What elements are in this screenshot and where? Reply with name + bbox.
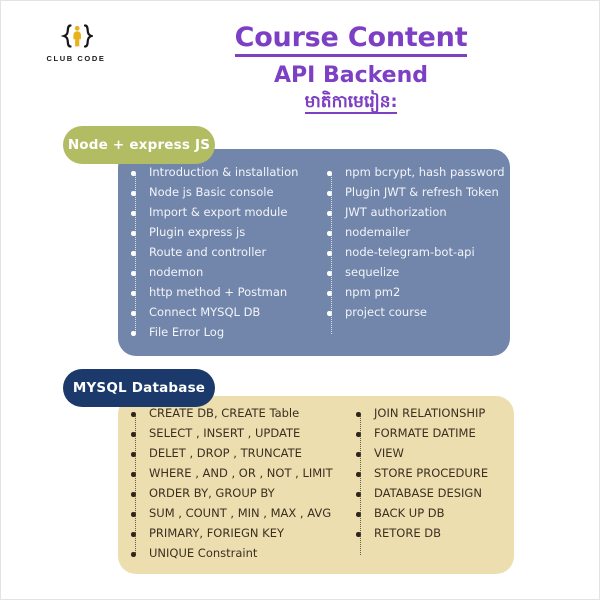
logo-wordmark: CLUB CODE	[31, 54, 121, 63]
list-item: npm bcrypt, hash password	[327, 166, 501, 186]
bullet-icon	[327, 311, 332, 316]
bullet-icon	[131, 251, 136, 256]
bullet-icon	[356, 412, 361, 417]
bullet-icon	[131, 171, 136, 176]
list-item: Node js Basic console	[131, 186, 327, 206]
node-express-list-right: npm bcrypt, hash password Plugin JWT & r…	[327, 166, 501, 346]
badge-mysql-database: MYSQL Database	[63, 369, 215, 407]
bullet-icon	[131, 492, 136, 497]
list-item: Route and controller	[131, 246, 327, 266]
list-item: Import & export module	[131, 206, 327, 226]
page-subtitle: API Backend	[131, 64, 571, 88]
list-item: SUM , COUNT , MIN , MAX , AVG	[131, 507, 356, 527]
bullet-icon	[131, 331, 136, 336]
bullet-icon	[131, 432, 136, 437]
bullet-icon	[327, 211, 332, 216]
list-item: DELET , DROP , TRUNCATE	[131, 447, 356, 467]
title-block: Course Content API Backend មាតិកាមេរៀន:	[131, 23, 571, 114]
bullet-icon	[327, 231, 332, 236]
bullet-icon	[131, 512, 136, 517]
list-item: UNIQUE Constraint	[131, 547, 356, 567]
bullet-icon	[327, 251, 332, 256]
list-item: SELECT , INSERT , UPDATE	[131, 427, 356, 447]
list-item: CREATE DB, CREATE Table	[131, 407, 356, 427]
list-item: node-telegram-bot-api	[327, 246, 501, 266]
bullet-icon	[131, 291, 136, 296]
code-braces-icon	[59, 23, 93, 49]
node-express-list: Introduction & installation Node js Basi…	[131, 166, 501, 346]
list-item: JWT authorization	[327, 206, 501, 226]
bullet-icon	[356, 472, 361, 477]
list-item: http method + Postman	[131, 286, 327, 306]
page-title: Course Content	[235, 23, 468, 57]
bullet-icon	[356, 432, 361, 437]
bullet-icon	[131, 191, 136, 196]
list-item: Plugin express js	[131, 226, 327, 246]
bullet-icon	[131, 271, 136, 276]
bullet-icon	[356, 452, 361, 457]
bullet-icon	[131, 412, 136, 417]
mysql-database-list: CREATE DB, CREATE Table SELECT , INSERT …	[131, 407, 511, 567]
badge-mysql-database-label: MYSQL Database	[73, 380, 205, 396]
list-item: VIEW	[356, 447, 511, 467]
list-item: Plugin JWT & refresh Token	[327, 186, 501, 206]
list-item: Connect MYSQL DB	[131, 306, 327, 326]
list-item: ORDER BY, GROUP BY	[131, 487, 356, 507]
bullet-icon	[131, 211, 136, 216]
list-item: BACK UP DB	[356, 507, 511, 527]
bullet-icon	[356, 512, 361, 517]
mysql-database-list-right: JOIN RELATIONSHIP FORMATE DATIME VIEW ST…	[356, 407, 511, 567]
course-content-poster: CLUB CODE Course Content API Backend មាត…	[0, 0, 600, 600]
list-item: File Error Log	[131, 326, 327, 346]
bullet-icon	[131, 552, 136, 557]
bullet-icon	[131, 452, 136, 457]
bullet-icon	[327, 171, 332, 176]
badge-node-express-label: Node + express JS	[68, 137, 210, 153]
list-item: project course	[327, 306, 501, 326]
node-express-list-left: Introduction & installation Node js Basi…	[131, 166, 327, 346]
bullet-icon	[356, 532, 361, 537]
bullet-icon	[131, 532, 136, 537]
list-item: Introduction & installation	[131, 166, 327, 186]
list-item: nodemailer	[327, 226, 501, 246]
list-item: JOIN RELATIONSHIP	[356, 407, 511, 427]
bullet-icon	[131, 472, 136, 477]
list-item: DATABASE DESIGN	[356, 487, 511, 507]
list-item: FORMATE DATIME	[356, 427, 511, 447]
page-subtitle-khmer: មាតិកាមេរៀន:	[305, 92, 398, 114]
bullet-icon	[327, 291, 332, 296]
bullet-icon	[131, 231, 136, 236]
mysql-database-list-left: CREATE DB, CREATE Table SELECT , INSERT …	[131, 407, 356, 567]
bullet-icon	[327, 191, 332, 196]
list-item: npm pm2	[327, 286, 501, 306]
list-item: WHERE , AND , OR , NOT , LIMIT	[131, 467, 356, 487]
list-item: sequelize	[327, 266, 501, 286]
badge-node-express: Node + express JS	[63, 126, 215, 164]
bullet-icon	[131, 311, 136, 316]
list-item: STORE PROCEDURE	[356, 467, 511, 487]
bullet-icon	[356, 492, 361, 497]
bullet-icon	[327, 271, 332, 276]
list-item: RETORE DB	[356, 527, 511, 547]
list-item: nodemon	[131, 266, 327, 286]
list-item: PRIMARY, FORIEGN KEY	[131, 527, 356, 547]
brand-logo: CLUB CODE	[31, 23, 121, 63]
